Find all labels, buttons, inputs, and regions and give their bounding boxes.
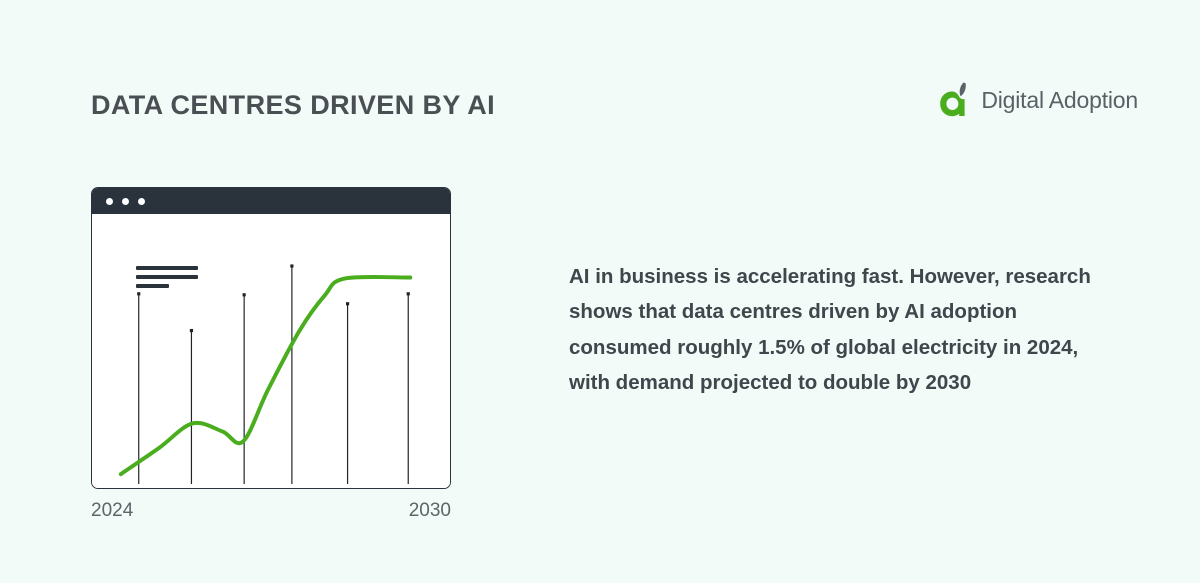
window-dot-2[interactable] (122, 198, 129, 205)
stem-2-cap (190, 329, 193, 332)
window-dot-1[interactable] (106, 198, 113, 205)
stem-6-cap (407, 292, 410, 295)
window-dot-3[interactable] (138, 198, 145, 205)
stem-3-cap (243, 293, 246, 296)
body-paragraph: AI in business is accelerating fast. How… (569, 259, 1099, 401)
stem-5-cap (346, 302, 349, 305)
page-title: DATA CENTRES DRIVEN BY AI (91, 90, 495, 121)
stem-4-cap (290, 264, 293, 267)
brand-name: Digital Adoption (981, 87, 1138, 114)
x-axis-labels: 2024 2030 (91, 500, 451, 522)
chart-card-body (92, 214, 450, 488)
line-chart-plot (92, 214, 450, 488)
stem-markers (137, 264, 410, 484)
trend-line-path (121, 277, 410, 474)
axis-label-end: 2030 (409, 500, 451, 522)
chart-card (91, 187, 451, 489)
card-titlebar (92, 188, 450, 214)
brand-logo: Digital Adoption (939, 80, 1138, 120)
stem-1-cap (137, 292, 140, 295)
leaf-a-logo-icon (939, 80, 975, 120)
axis-label-start: 2024 (91, 500, 133, 522)
infographic-page: DATA CENTRES DRIVEN BY AI Digital Adopti… (0, 0, 1200, 583)
